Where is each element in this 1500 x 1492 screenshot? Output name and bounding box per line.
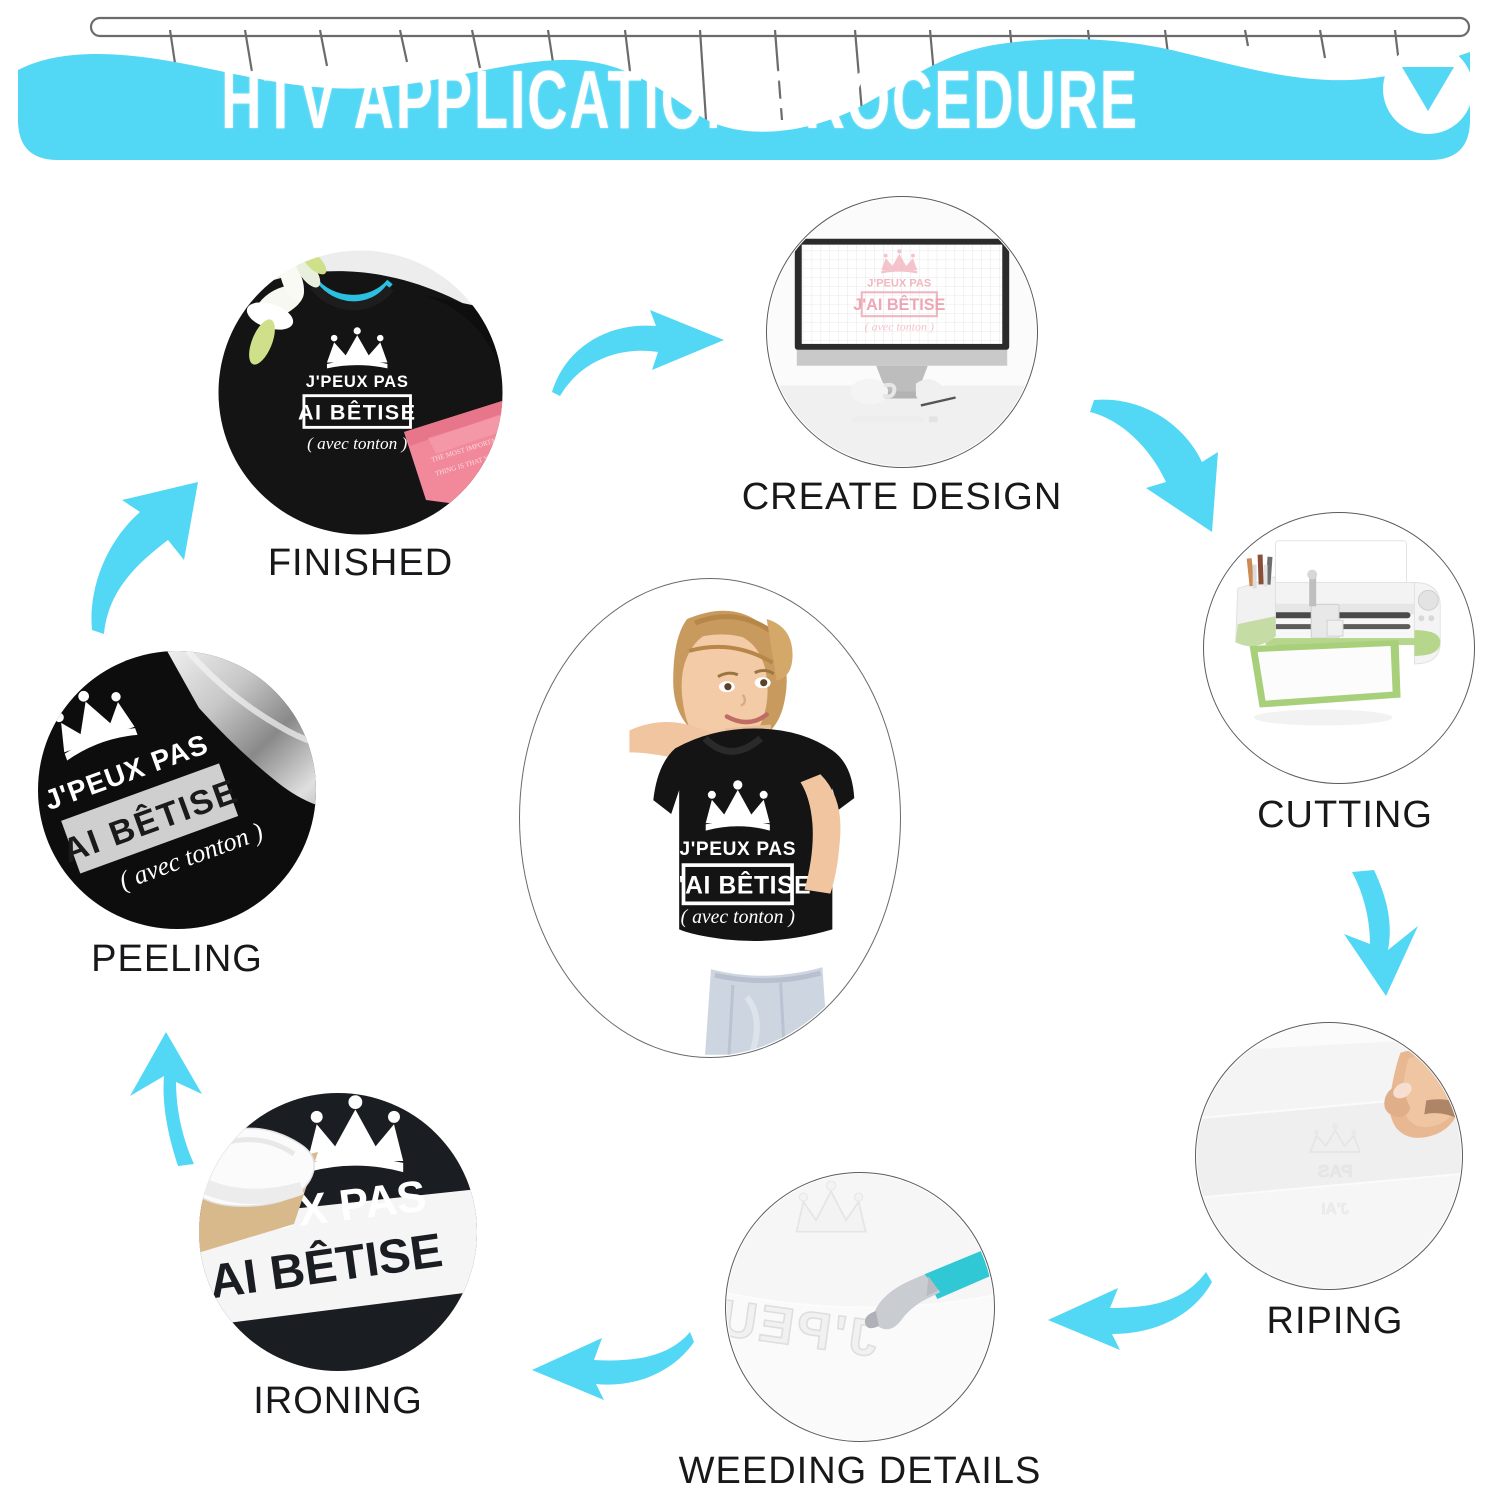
- svg-text:AI BÊTISE: AI BÊTISE: [298, 399, 416, 424]
- photo-weeding-hook: J'PEUX: [725, 1172, 995, 1442]
- svg-text:J'PEUX PAS: J'PEUX PAS: [679, 839, 796, 860]
- create-design-scene: J'PEUX PAS J'AI BÊTISE ( avec tonton ): [767, 197, 1037, 467]
- photo-create-design-monitor: J'PEUX PAS J'AI BÊTISE ( avec tonton ): [766, 196, 1038, 468]
- cutting-scene: [1204, 513, 1474, 783]
- page-title: HTV APPLICATION PROCEDURE: [48, 52, 1313, 147]
- svg-text:J'AI: J'AI: [1321, 1201, 1349, 1218]
- svg-text:( avec tonton ): ( avec tonton ): [681, 906, 795, 928]
- step-label-ironing: IRONING: [253, 1380, 423, 1423]
- photo-center-girl-model: J'PEUX PAS J'AI BÊTISE ( avec tonton ): [519, 578, 901, 1058]
- svg-text:( avec tonton ): ( avec tonton ): [307, 434, 407, 453]
- arrow-cutting-to-riping: [1330, 866, 1440, 1006]
- finished-scene: THE MOST IMPORTANT THING IS THAT YOU J'P…: [218, 250, 503, 535]
- arrow-ironing-to-peeling: [104, 1030, 224, 1170]
- arrow-riping-to-weeding: [1046, 1258, 1216, 1368]
- step-ironing[interactable]: UX PAS AI BÊTISE IRONING: [188, 1092, 488, 1432]
- step-label-finished: FINISHED: [268, 542, 453, 585]
- photo-peeling-transfer: J'PEUX PAS AI BÊTISE ( avec tonton ): [37, 650, 317, 930]
- arrow-create-to-cutting: [1088, 390, 1248, 540]
- svg-text:J'AI BÊTISE: J'AI BÊTISE: [853, 295, 945, 314]
- photo-ironing-iron: UX PAS AI BÊTISE: [198, 1092, 478, 1372]
- photo-cutting-machine: [1203, 512, 1475, 784]
- cutting-mat-icon: [1250, 640, 1401, 708]
- weeding-scene: J'PEUX: [726, 1173, 994, 1441]
- svg-text:( avec tonton ): ( avec tonton ): [865, 320, 934, 334]
- step-weeding-details[interactable]: J'PEUX WEEDING DETAILS: [700, 1172, 1020, 1492]
- peeling-scene: J'PEUX PAS AI BÊTISE ( avec tonton ): [37, 650, 317, 930]
- ironing-scene: UX PAS AI BÊTISE: [198, 1092, 478, 1372]
- step-peeling[interactable]: J'PEUX PAS AI BÊTISE ( avec tonton ) PEE…: [32, 650, 322, 990]
- step-label-riping: RIPING: [1267, 1300, 1404, 1343]
- step-finished[interactable]: THE MOST IMPORTANT THING IS THAT YOU J'P…: [213, 250, 508, 590]
- header-banner: HTV APPLICATION PROCEDURE: [0, 0, 1500, 175]
- step-label-cutting: CUTTING: [1257, 794, 1433, 837]
- step-label-weeding-details: WEEDING DETAILS: [679, 1450, 1042, 1492]
- step-riping[interactable]: PAS J'AI RIPING: [1185, 1022, 1485, 1352]
- mug-icon: [850, 379, 888, 405]
- arrow-weeding-to-ironing: [528, 1322, 698, 1422]
- svg-text:J'PEUX PAS: J'PEUX PAS: [306, 372, 409, 391]
- svg-text:J'AI BÊTISE: J'AI BÊTISE: [664, 871, 811, 899]
- center-model-node[interactable]: J'PEUX PAS J'AI BÊTISE ( avec tonton ): [519, 578, 901, 1058]
- center-model-scene: J'PEUX PAS J'AI BÊTISE ( avec tonton ): [520, 579, 900, 1057]
- triangle-down-icon: [1383, 44, 1473, 134]
- arrow-finished-to-create: [548, 296, 728, 406]
- arrow-peeling-to-finished: [78, 478, 218, 638]
- infographic-root: HTV APPLICATION PROCEDURE: [0, 0, 1500, 1492]
- photo-riping-hand: PAS J'AI: [1195, 1022, 1463, 1290]
- svg-text:J'PEUX PAS: J'PEUX PAS: [867, 277, 931, 289]
- step-create-design[interactable]: J'PEUX PAS J'AI BÊTISE ( avec tonton ): [742, 196, 1062, 536]
- photo-finished-tshirt: THE MOST IMPORTANT THING IS THAT YOU J'P…: [218, 250, 503, 535]
- riping-scene: PAS J'AI: [1196, 1023, 1462, 1289]
- svg-text:PAS: PAS: [1318, 1161, 1353, 1181]
- step-label-peeling: PEELING: [91, 938, 263, 981]
- step-label-create-design: CREATE DESIGN: [742, 476, 1063, 519]
- step-cutting[interactable]: CUTTING: [1195, 512, 1495, 852]
- keyboard-icon: [852, 416, 923, 422]
